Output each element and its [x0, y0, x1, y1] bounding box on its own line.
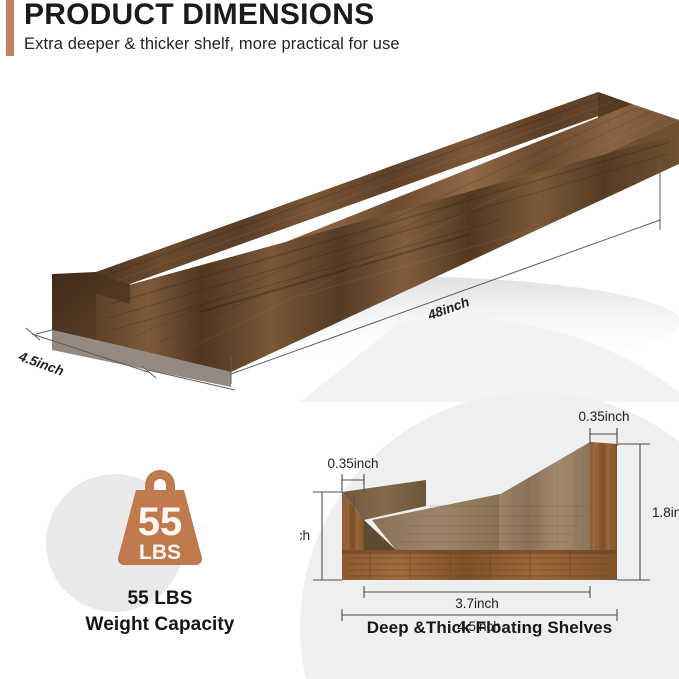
- cross-section-caption: Deep &Thick Floating Shelves: [300, 618, 679, 638]
- cross-section-block: 0.35inch 1.8inch 0: [300, 402, 679, 679]
- dim-front-lip-thickness: [342, 474, 364, 492]
- page-subtitle: Extra deeper & thicker shelf, more pract…: [24, 33, 400, 55]
- dimension-depth-label: 4.5inch: [16, 348, 66, 378]
- weight-unit: LBS: [139, 541, 181, 564]
- accent-bar: [6, 0, 14, 56]
- weight-capacity-block: 55 LBS 55 LBS Weight Capacity: [28, 462, 292, 662]
- dim-total-height-label: 1.8inch: [652, 505, 679, 520]
- weight-value: 55: [138, 500, 183, 544]
- hero-shelf-svg: 48inch 4.5inch: [0, 72, 679, 402]
- cross-section-svg: 0.35inch 1.8inch 0: [300, 402, 679, 632]
- header: PRODUCT DIMENSIONS Extra deeper & thicke…: [0, 0, 679, 72]
- tray-base-highlight: [342, 550, 617, 554]
- dim-front-lip-height: [313, 492, 342, 580]
- dim-total-height: [617, 444, 650, 580]
- dim-back-wall-thickness-label: 0.35inch: [578, 409, 629, 424]
- page-title: PRODUCT DIMENSIONS: [24, 0, 374, 32]
- dim-inner-width-label: 3.7inch: [455, 596, 499, 611]
- hero-shelf-illustration: 48inch 4.5inch: [0, 72, 679, 402]
- weight-handle-icon: [145, 470, 175, 491]
- weight-caption-line1: 55 LBS: [28, 586, 292, 612]
- dim-front-lip-thickness-label: 0.35inch: [327, 456, 378, 471]
- weight-caption-line2: Weight Capacity: [28, 612, 292, 638]
- bottom-section: 55 LBS 55 LBS Weight Capacity: [0, 402, 679, 679]
- weight-icon: 55 LBS: [100, 462, 220, 572]
- dim-front-lip-height-label: 0.5inch: [300, 528, 310, 543]
- weight-caption: 55 LBS Weight Capacity: [28, 586, 292, 638]
- infographic-root: PRODUCT DIMENSIONS Extra deeper & thicke…: [0, 0, 679, 679]
